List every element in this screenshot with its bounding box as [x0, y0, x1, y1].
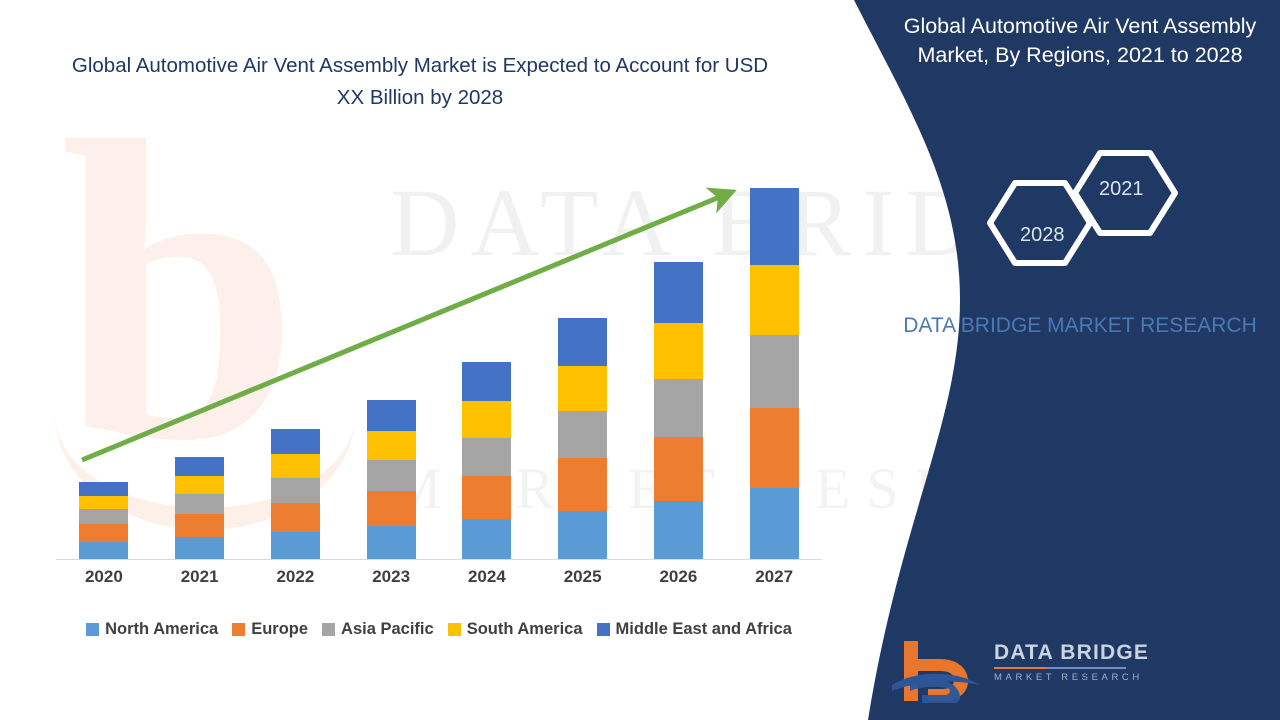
hexagon-label-back: 2021	[1099, 178, 1144, 201]
bar-segment-asia-pacific-2027[interactable]	[750, 335, 799, 408]
x-axis-label-2023: 2023	[343, 567, 439, 587]
logo-divider-rule	[994, 667, 1126, 669]
bar-segment-asia-pacific-2025[interactable]	[558, 411, 607, 458]
x-axis-label-2026: 2026	[630, 567, 726, 587]
legend-label: South America	[467, 620, 583, 639]
logo-wordmark: DATA BRIDGE MARKET RESEARCH	[994, 641, 1149, 683]
bar-segment-south-america-2027[interactable]	[750, 265, 799, 335]
data-bridge-b-logo-icon	[888, 635, 984, 703]
bar-segment-north-america-2023[interactable]	[367, 526, 416, 559]
slide-canvas: b DATA BRIDGE MARKET RESEARCH Global Aut…	[0, 0, 1280, 720]
bar-segment-south-america-2025[interactable]	[558, 366, 607, 411]
bar-segment-europe-2023[interactable]	[367, 491, 416, 526]
hexagon-outline-icons	[980, 145, 1200, 270]
bar-2027[interactable]	[750, 188, 799, 559]
x-axis-label-2027: 2027	[726, 567, 822, 587]
panel-title: Global Automotive Air Vent Assembly Mark…	[895, 12, 1265, 70]
legend-label: Asia Pacific	[341, 620, 434, 639]
bar-segment-asia-pacific-2026[interactable]	[654, 379, 703, 437]
bar-segment-asia-pacific-2023[interactable]	[367, 460, 416, 491]
legend-label: North America	[105, 620, 218, 639]
legend-item-asia-pacific[interactable]: Asia Pacific	[322, 620, 434, 639]
bar-segment-south-america-2020[interactable]	[79, 496, 128, 509]
logo-name-top: DATA BRIDGE	[994, 641, 1149, 665]
bar-segment-asia-pacific-2021[interactable]	[175, 494, 224, 514]
bar-segment-south-america-2024[interactable]	[462, 401, 511, 438]
bar-segment-europe-2026[interactable]	[654, 437, 703, 501]
legend-swatch-icon	[448, 623, 461, 636]
bar-segment-south-america-2023[interactable]	[367, 431, 416, 460]
x-axis-label-2022: 2022	[247, 567, 343, 587]
legend-item-middle-east-and-africa[interactable]: Middle East and Africa	[597, 620, 792, 639]
bar-segment-asia-pacific-2020[interactable]	[79, 509, 128, 524]
bar-segment-middle-east-and-africa-2020[interactable]	[79, 482, 128, 496]
legend-item-south-america[interactable]: South America	[448, 620, 583, 639]
bar-segment-europe-2027[interactable]	[750, 408, 799, 488]
bar-2026[interactable]	[654, 262, 703, 559]
year-hexagons: 2021 2028	[980, 145, 1200, 270]
bar-segment-middle-east-and-africa-2026[interactable]	[654, 262, 703, 323]
bar-segment-europe-2022[interactable]	[271, 503, 320, 532]
bar-segment-europe-2024[interactable]	[462, 476, 511, 519]
legend-item-north-america[interactable]: North America	[86, 620, 218, 639]
legend-item-europe[interactable]: Europe	[232, 620, 308, 639]
bar-segment-europe-2025[interactable]	[558, 458, 607, 511]
x-axis-label-2024: 2024	[439, 567, 535, 587]
legend-swatch-icon	[322, 623, 335, 636]
bar-segment-europe-2021[interactable]	[175, 514, 224, 537]
data-bridge-logo: DATA BRIDGE MARKET RESEARCH	[888, 635, 1138, 707]
x-axis-label-2021: 2021	[152, 567, 248, 587]
bar-segment-middle-east-and-africa-2025[interactable]	[558, 318, 607, 366]
bar-2022[interactable]	[271, 429, 320, 559]
bar-segment-middle-east-and-africa-2023[interactable]	[367, 400, 416, 431]
bar-segment-middle-east-and-africa-2024[interactable]	[462, 362, 511, 401]
bar-segment-north-america-2025[interactable]	[558, 511, 607, 559]
bar-segment-south-america-2022[interactable]	[271, 454, 320, 478]
chart-title: Global Automotive Air Vent Assembly Mark…	[70, 50, 770, 114]
bar-segment-asia-pacific-2022[interactable]	[271, 478, 320, 503]
legend-swatch-icon	[232, 623, 245, 636]
bar-2024[interactable]	[462, 362, 511, 559]
bar-segment-south-america-2026[interactable]	[654, 323, 703, 379]
legend-label: Middle East and Africa	[616, 620, 792, 639]
x-axis-line	[56, 559, 822, 560]
bar-segment-middle-east-and-africa-2022[interactable]	[271, 429, 320, 454]
x-axis-label-2025: 2025	[535, 567, 631, 587]
hexagon-2028-icon	[990, 183, 1090, 263]
legend-swatch-icon	[86, 623, 99, 636]
brand-caption: DATA BRIDGE MARKET RESEARCH	[895, 310, 1265, 342]
bar-segment-middle-east-and-africa-2021[interactable]	[175, 457, 224, 476]
bar-segment-north-america-2024[interactable]	[462, 519, 511, 559]
bar-2020[interactable]	[79, 482, 128, 559]
bar-2021[interactable]	[175, 457, 224, 559]
bar-segment-north-america-2027[interactable]	[750, 488, 799, 559]
legend-swatch-icon	[597, 623, 610, 636]
bar-segment-europe-2020[interactable]	[79, 524, 128, 542]
bar-segment-north-america-2022[interactable]	[271, 532, 320, 559]
bar-segment-north-america-2020[interactable]	[79, 542, 128, 559]
bar-segment-asia-pacific-2024[interactable]	[462, 438, 511, 476]
bar-segment-north-america-2026[interactable]	[654, 501, 703, 559]
bar-segment-north-america-2021[interactable]	[175, 537, 224, 559]
bar-segment-middle-east-and-africa-2027[interactable]	[750, 188, 799, 265]
stacked-bar-chart-plot	[56, 160, 822, 560]
bar-segment-south-america-2021[interactable]	[175, 476, 224, 494]
hexagon-label-front: 2028	[1020, 224, 1065, 247]
bar-2025[interactable]	[558, 318, 607, 559]
x-axis-label-2020: 2020	[56, 567, 152, 587]
logo-name-bottom: MARKET RESEARCH	[994, 672, 1149, 683]
bar-2023[interactable]	[367, 400, 416, 559]
legend-label: Europe	[251, 620, 308, 639]
chart-legend: North AmericaEuropeAsia PacificSouth Ame…	[56, 616, 822, 642]
x-axis-labels: 20202021202220232024202520262027	[56, 567, 822, 593]
right-info-panel: Global Automotive Air Vent Assembly Mark…	[810, 0, 1280, 720]
